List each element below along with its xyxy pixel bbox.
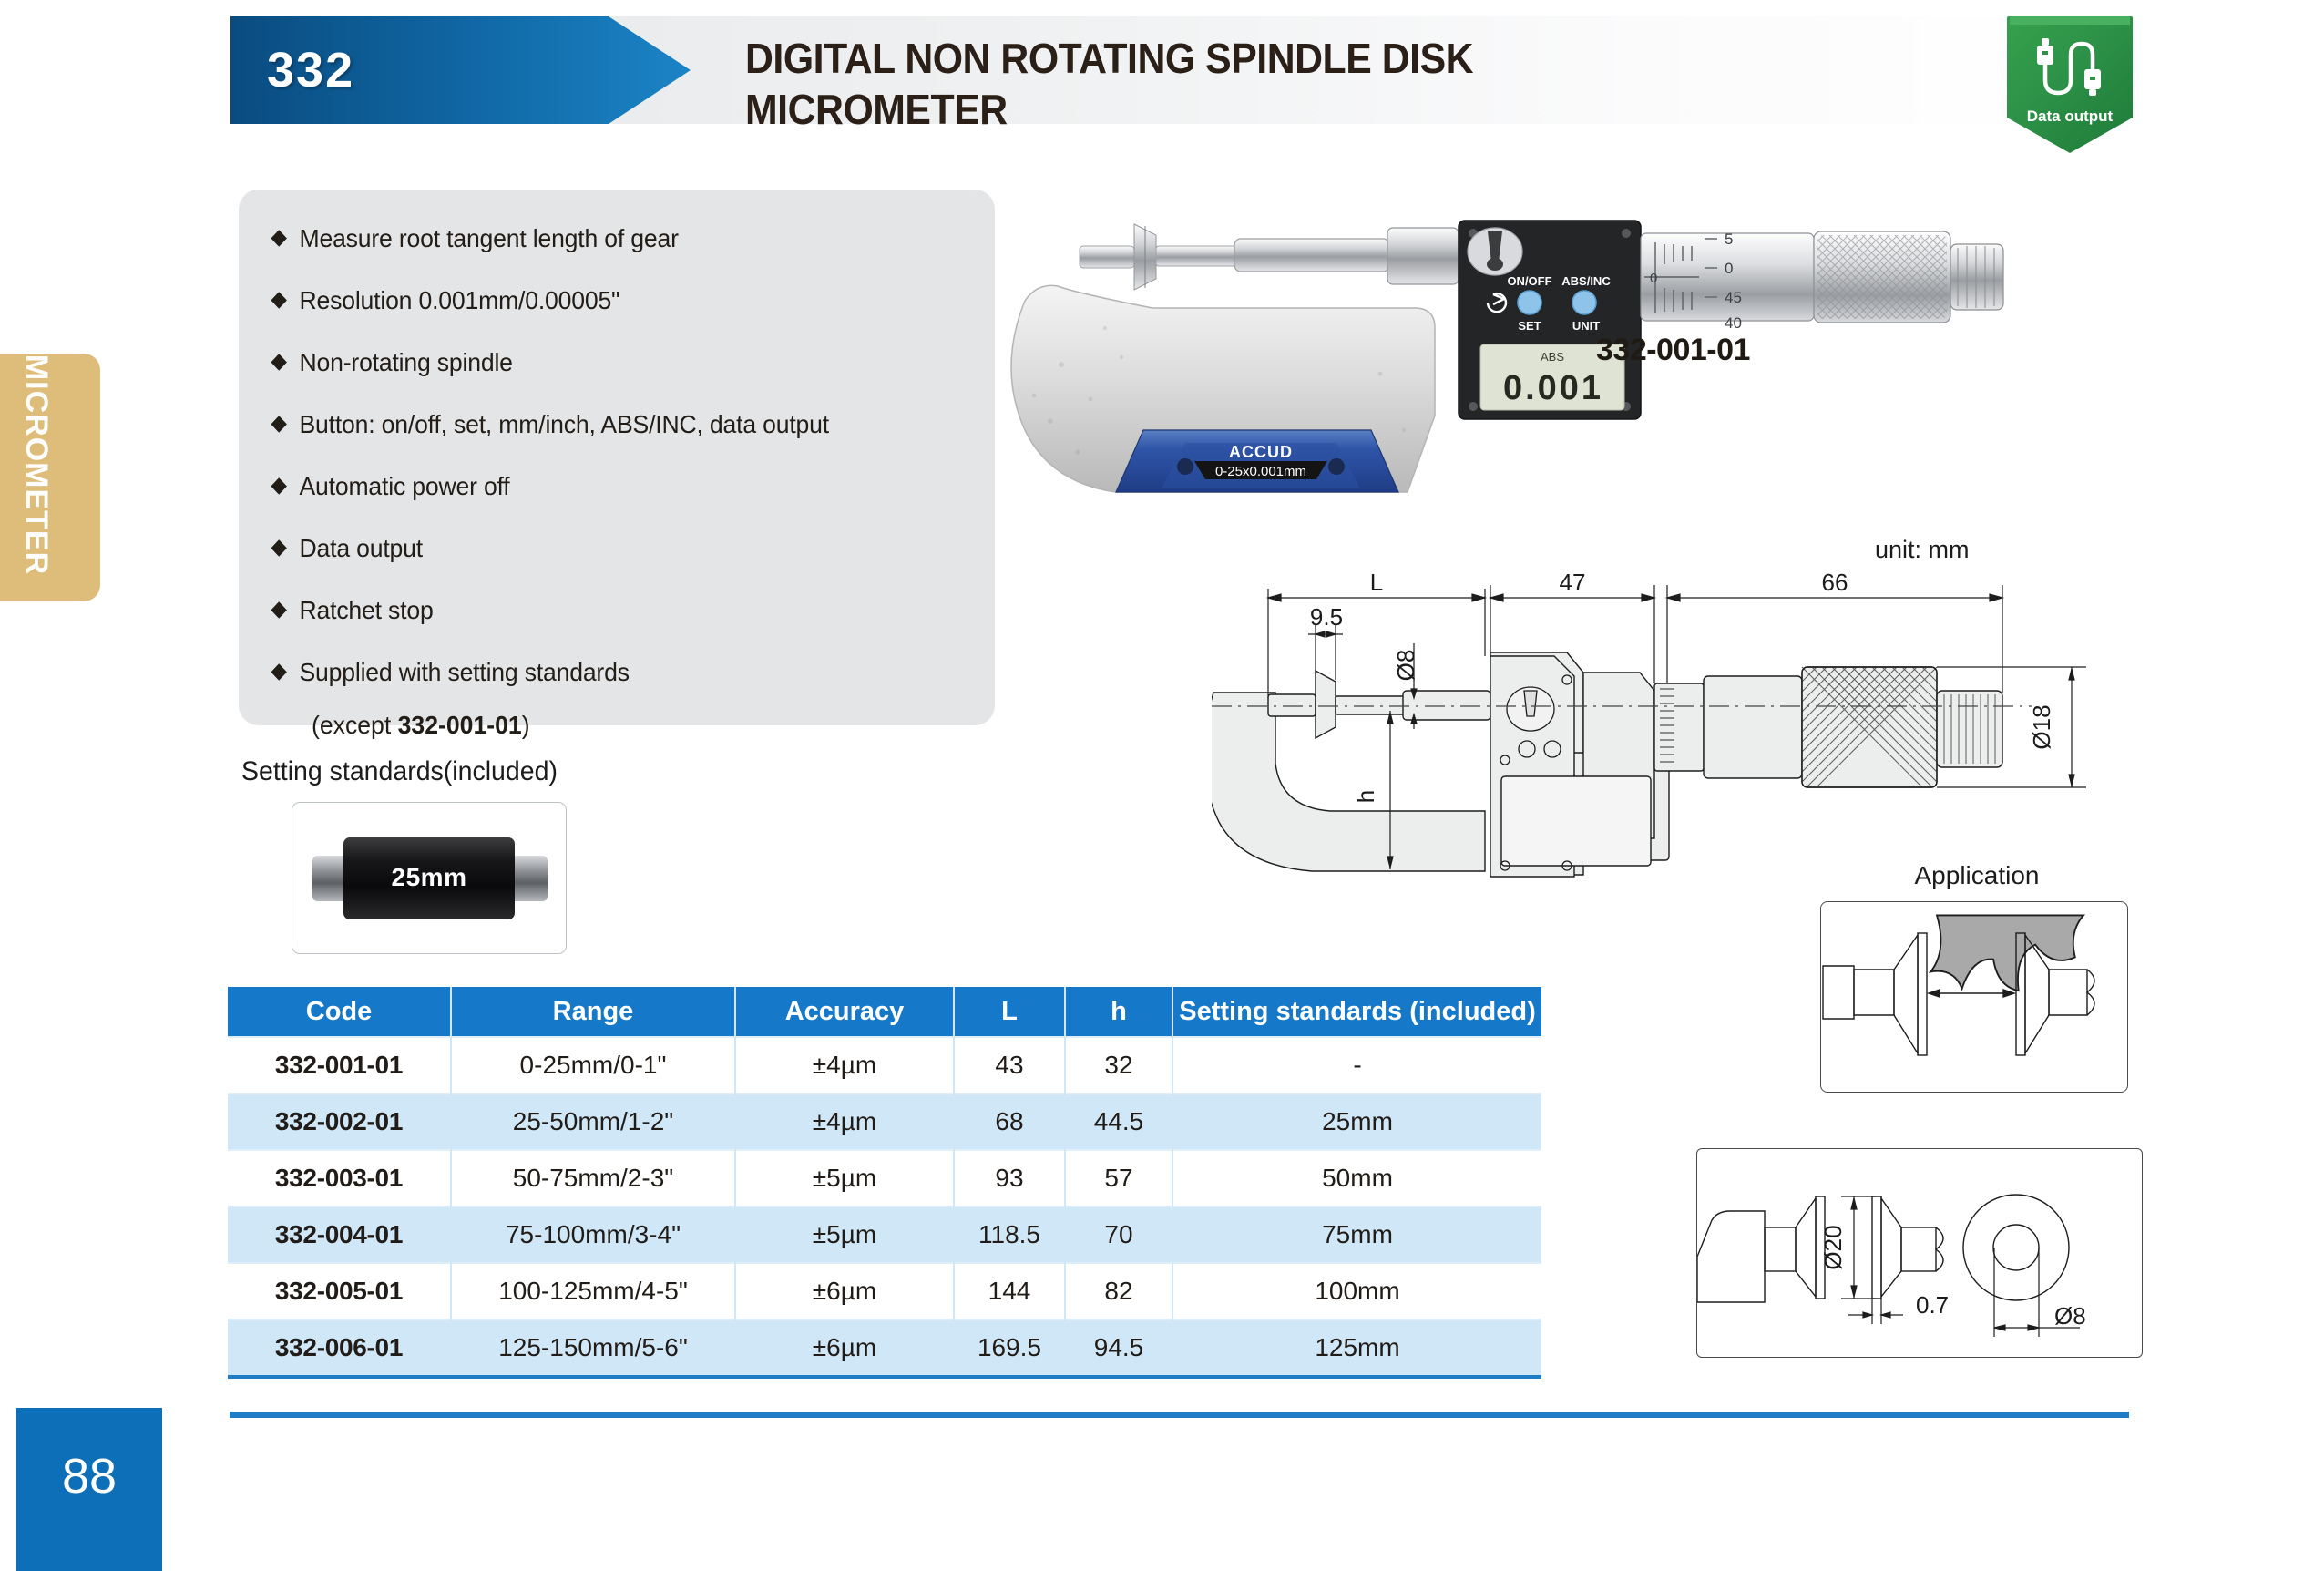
cell-l: 169.5 xyxy=(954,1319,1065,1377)
page-title-line1: DIGITAL NON ROTATING SPINDLE DISK xyxy=(745,33,1805,84)
gear-measurement-illustration xyxy=(1821,902,2125,1090)
page-header: 332 DIGITAL NON ROTATING SPINDLE DISK MI… xyxy=(0,16,2324,124)
lcd-mode-indicator: ABS xyxy=(1541,350,1564,364)
footer-rule xyxy=(230,1412,2129,1418)
dim-0-7: 0.7 xyxy=(1916,1291,1949,1319)
page-title-line2: MICROMETER xyxy=(745,84,1805,135)
setting-standards-title: Setting standards(included) xyxy=(241,756,558,787)
button-label-absinc: ABS/INC xyxy=(1561,274,1611,288)
cell-code: 332-005-01 xyxy=(228,1263,451,1319)
features-panel: Measure root tangent length of gear Reso… xyxy=(239,190,995,725)
feature-exception-note: (except 332-001-01) xyxy=(312,711,530,740)
table-row[interactable]: 332-005-01 100-125mm/4-5" ±6µm 144 82 10… xyxy=(228,1263,1541,1319)
feature-text: Ratchet stop xyxy=(300,596,434,624)
table-row[interactable]: 332-006-01 125-150mm/5-6" ±6µm 169.5 94.… xyxy=(228,1319,1541,1377)
product-photo: ON/OFF SET ABS/INC UNIT ABS 0.001 xyxy=(1007,191,2036,574)
table-row[interactable]: 332-003-01 50-75mm/2-3" ±5µm 93 57 50mm xyxy=(228,1150,1541,1206)
dim-d8-front: Ø8 xyxy=(2054,1302,2086,1330)
catalog-page: 332 DIGITAL NON ROTATING SPINDLE DISK MI… xyxy=(0,0,2324,1571)
feature-text: Supplied with setting standards xyxy=(300,658,630,686)
cell-l: 93 xyxy=(954,1150,1065,1206)
cell-code: 332-002-01 xyxy=(228,1094,451,1150)
gauge-cap-right xyxy=(509,856,548,901)
product-model-label: 332-001-01 xyxy=(1596,333,1750,368)
feature-text: Data output xyxy=(300,534,423,562)
table-row[interactable]: 332-004-01 75-100mm/3-4" ±5µm 118.5 70 7… xyxy=(228,1206,1541,1263)
cell-standards: 100mm xyxy=(1172,1263,1541,1319)
cell-range: 25-50mm/1-2" xyxy=(451,1094,735,1150)
diamond-bullet-icon xyxy=(271,230,286,246)
diamond-bullet-icon xyxy=(271,663,286,680)
feature-text: Measure root tangent length of gear xyxy=(300,224,679,252)
cell-h: 57 xyxy=(1065,1150,1172,1206)
cell-range: 50-75mm/2-3" xyxy=(451,1150,735,1206)
disk-anvil-detail-drawing: Ø20 0.7 Ø xyxy=(1697,1149,2140,1355)
cell-range: 0-25mm/0-1" xyxy=(451,1037,735,1094)
cell-standards: 125mm xyxy=(1172,1319,1541,1377)
feature-item: Resolution 0.001mm/0.00005" xyxy=(273,286,619,315)
feature-text: Automatic power off xyxy=(300,472,510,500)
dim-h: h xyxy=(1352,790,1379,803)
cell-accuracy: ±6µm xyxy=(735,1319,954,1377)
thimble-tick-0: 0 xyxy=(1725,260,1733,277)
feature-item: Ratchet stop xyxy=(273,596,434,625)
application-section: Application xyxy=(1813,861,2141,1098)
dim-47: 47 xyxy=(1560,569,1586,596)
data-output-badge: Data output xyxy=(2007,16,2133,153)
cell-accuracy: ±4µm xyxy=(735,1094,954,1150)
cell-h: 32 xyxy=(1065,1037,1172,1094)
diamond-bullet-icon xyxy=(271,292,286,308)
feature-item: Data output xyxy=(273,534,423,563)
feature-item: Supplied with setting standards xyxy=(273,658,630,687)
cell-accuracy: ±4µm xyxy=(735,1037,954,1094)
feature-text: Resolution 0.001mm/0.00005" xyxy=(300,286,620,314)
usb-cable-icon xyxy=(2025,33,2114,108)
product-series-code: 332 xyxy=(267,42,540,98)
cell-l: 68 xyxy=(954,1094,1065,1150)
cell-h: 82 xyxy=(1065,1263,1172,1319)
diamond-bullet-icon xyxy=(271,477,286,494)
col-header-standards: Setting standards (included) xyxy=(1172,987,1541,1037)
cell-code: 332-003-01 xyxy=(228,1150,451,1206)
thimble-tick-45: 45 xyxy=(1725,289,1742,306)
col-header-h: h xyxy=(1065,987,1172,1037)
brand-logo: ACCUD xyxy=(1229,443,1293,461)
dim-L: L xyxy=(1370,569,1383,596)
feature-item: Button: on/off, set, mm/inch, ABS/INC, d… xyxy=(273,410,829,439)
cell-standards: 25mm xyxy=(1172,1094,1541,1150)
cell-standards: 50mm xyxy=(1172,1150,1541,1206)
application-illustration-box xyxy=(1820,901,2128,1093)
cell-l: 43 xyxy=(954,1037,1065,1094)
dim-9-5: 9.5 xyxy=(1310,603,1343,631)
disk-detail-section: Ø20 0.7 Ø xyxy=(1696,1148,2141,1376)
col-header-range: Range xyxy=(451,987,735,1037)
thimble-tick-5: 5 xyxy=(1725,231,1733,248)
badge-top-bar xyxy=(2010,16,2130,25)
category-tab-label: MICROMETER xyxy=(18,341,55,589)
cell-l: 118.5 xyxy=(954,1206,1065,1263)
diamond-bullet-icon xyxy=(271,539,286,556)
page-number-box: 88 xyxy=(16,1408,162,1571)
cell-standards: 75mm xyxy=(1172,1206,1541,1263)
cell-accuracy: ±6µm xyxy=(735,1263,954,1319)
lcd-value: 0.001 xyxy=(1503,369,1603,407)
cell-code: 332-006-01 xyxy=(228,1319,451,1377)
cell-range: 125-150mm/5-6" xyxy=(451,1319,735,1377)
cell-standards: - xyxy=(1172,1037,1541,1094)
setting-standards-photo-box: 25mm xyxy=(292,802,567,954)
cell-h: 70 xyxy=(1065,1206,1172,1263)
table-row[interactable]: 332-002-01 25-50mm/1-2" ±4µm 68 44.5 25m… xyxy=(228,1094,1541,1150)
sleeve-zero-tick: 0 xyxy=(1650,271,1657,286)
cell-code: 332-001-01 xyxy=(228,1037,451,1094)
button-label-set: SET xyxy=(1518,319,1541,333)
col-header-code: Code xyxy=(228,987,451,1037)
feature-item: Non-rotating spindle xyxy=(273,348,513,377)
brand-range-label: 0-25x0.001mm xyxy=(1215,464,1306,479)
diamond-bullet-icon xyxy=(271,354,286,370)
diamond-bullet-icon xyxy=(271,416,286,432)
dim-d20: Ø20 xyxy=(1819,1225,1847,1269)
exception-code: 332-001-01 xyxy=(398,711,522,739)
micrometer-photo-illustration: ON/OFF SET ABS/INC UNIT ABS 0.001 xyxy=(1007,191,2036,574)
cell-h: 44.5 xyxy=(1065,1094,1172,1150)
col-header-l: L xyxy=(954,987,1065,1037)
feature-text: Button: on/off, set, mm/inch, ABS/INC, d… xyxy=(300,410,829,438)
button-label-unit: UNIT xyxy=(1572,319,1600,333)
cell-h: 94.5 xyxy=(1065,1319,1172,1377)
dim-66: 66 xyxy=(1822,569,1848,596)
setting-standard-gauge: 25mm xyxy=(309,828,549,929)
feature-item: Automatic power off xyxy=(273,472,509,501)
page-title: DIGITAL NON ROTATING SPINDLE DISK MICROM… xyxy=(745,33,1805,135)
gauge-size-label: 25mm xyxy=(343,863,515,892)
cell-l: 144 xyxy=(954,1263,1065,1319)
badge-label: Data output xyxy=(2007,108,2133,126)
disk-detail-box: Ø20 0.7 Ø xyxy=(1696,1148,2143,1358)
cell-code: 332-004-01 xyxy=(228,1206,451,1263)
specification-table: Code Range Accuracy L h Setting standard… xyxy=(228,987,1541,1379)
table-row[interactable]: 332-001-01 0-25mm/0-1" ±4µm 43 32 - xyxy=(228,1037,1541,1094)
category-tab-micrometer[interactable]: MICROMETER xyxy=(0,354,100,601)
feature-text: Non-rotating spindle xyxy=(300,348,513,376)
diamond-bullet-icon xyxy=(271,601,286,618)
cell-accuracy: ±5µm xyxy=(735,1150,954,1206)
page-number: 88 xyxy=(16,1448,162,1504)
application-title: Application xyxy=(1813,861,2141,890)
thimble-tick-40: 40 xyxy=(1725,314,1742,332)
cell-range: 75-100mm/3-4" xyxy=(451,1206,735,1263)
dim-d8: Ø8 xyxy=(1392,650,1419,682)
exception-prefix: (except xyxy=(312,711,398,739)
dim-d18: Ø18 xyxy=(2028,704,2055,749)
cell-accuracy: ±5µm xyxy=(735,1206,954,1263)
button-label-onoff: ON/OFF xyxy=(1507,274,1551,288)
col-header-accuracy: Accuracy xyxy=(735,987,954,1037)
feature-item: Measure root tangent length of gear xyxy=(273,224,679,253)
table-header-row: Code Range Accuracy L h Setting standard… xyxy=(228,987,1541,1037)
cell-range: 100-125mm/4-5" xyxy=(451,1263,735,1319)
exception-suffix: ) xyxy=(522,711,530,739)
